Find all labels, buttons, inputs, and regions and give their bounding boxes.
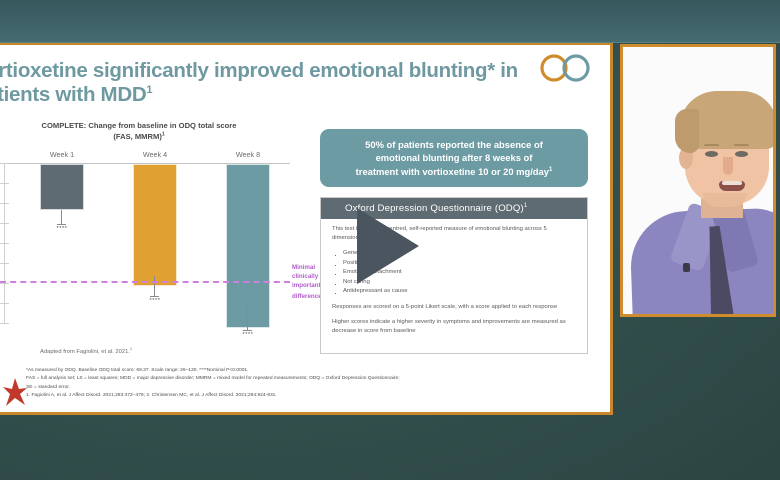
slide-title-line2: atients with MDD: [0, 83, 146, 106]
footnote-line-2: FAS = full analysis set; LS = least squa…: [26, 375, 601, 383]
top-band: [0, 0, 780, 43]
error-cap-week-1: [57, 224, 66, 225]
red-star-icon: [2, 377, 28, 407]
presenter-teeth: [722, 181, 742, 185]
slide-title-line1: ortioxetine significantly improved emoti…: [0, 59, 518, 82]
significance-week-4: ****: [140, 298, 170, 304]
bar-week-4: [133, 164, 177, 286]
error-cap-week-8: [243, 330, 252, 331]
y-tick-40: [0, 323, 9, 324]
slide-title: ortioxetine significantly improved emoti…: [0, 59, 546, 107]
slide-title-superscript: 1: [146, 84, 152, 96]
play-triangle-icon[interactable]: [357, 208, 419, 284]
chart-block: COMPLETE: Change from baseline in ODQ to…: [0, 120, 304, 365]
error-bar-week-8: [247, 302, 248, 330]
x-tick-week-4: Week 4: [125, 150, 185, 159]
presenter-sideburn: [675, 109, 699, 153]
brand-logo: [536, 53, 598, 83]
callout-line2: emotional blunting after 8 weeks of: [376, 152, 533, 163]
mcid-label-line1: Minimal: [292, 264, 315, 271]
callout-superscript: 1: [549, 167, 552, 173]
chart-source-note-superscript: 1: [130, 346, 132, 351]
y-tick-10: [0, 203, 9, 204]
footnote-line-1: *As measured by ODQ. Baseline ODQ total …: [26, 367, 601, 375]
presenter-nose: [723, 157, 733, 175]
key-finding-callout: 50% of patients reported the absence of …: [320, 129, 588, 187]
significance-week-8: ****: [233, 332, 263, 338]
y-tick-20: [0, 243, 9, 244]
chart-source-note-text: Adapted from Fagiolini, et al. 2021.: [40, 349, 130, 355]
significance-week-1: ****: [47, 226, 77, 232]
odq-panel-header-superscript: 1: [524, 203, 528, 209]
bar-week-8: [226, 164, 270, 328]
chart-title-line1: COMPLETE: Change from baseline in ODQ to…: [42, 121, 237, 130]
presenter-video-tile[interactable]: [620, 44, 776, 317]
bar-week-1: [40, 164, 84, 210]
mcid-label-line4: difference: [292, 293, 322, 300]
footnotes: *As measured by ODQ. Baseline ODQ total …: [26, 367, 601, 401]
mcid-reference-line: [0, 281, 290, 283]
footnote-line-3: SE = standard error.: [26, 384, 601, 392]
error-bar-week-4: [154, 276, 155, 296]
callout-line1: 50% of patients reported the absence of: [365, 139, 543, 150]
slide-panel: ortioxetine significantly improved emoti…: [0, 43, 613, 415]
chart-title-line2: (FAS, MMRM): [113, 132, 162, 141]
y-tick-35: [0, 303, 9, 304]
presenter-lapel-mic: [683, 263, 690, 272]
presenter-eye-left: [705, 151, 718, 157]
odq-severity-note: Higher scores indicate a higher severity…: [332, 318, 577, 336]
y-tick-0: [0, 163, 9, 164]
chart-title: COMPLETE: Change from baseline in ODQ to…: [0, 120, 304, 142]
y-tick-30: [0, 283, 9, 284]
error-cap-week-4: [150, 296, 159, 297]
x-tick-week-1: Week 1: [32, 150, 92, 159]
mcid-label-line3: important: [292, 282, 321, 289]
presenter-eye-right: [735, 151, 748, 157]
callout-line3: treatment with vortioxetine 10 or 20 mg/…: [356, 166, 549, 177]
bar-chart-plot: Week 1 Week 4 Week 8 **** ****: [0, 150, 290, 340]
footnote-references: 1. Fagiolini A, et al. J Affect Disord. …: [26, 392, 601, 400]
odq-scoring-note: Responses are scored on a 5-point Likert…: [332, 303, 577, 312]
error-bar-week-1: [61, 210, 62, 224]
list-item: Antidepressant as cause: [332, 287, 577, 297]
y-tick-25: [0, 263, 9, 264]
chart-source-note: Adapted from Fagiolini, et al. 2021.1: [40, 346, 132, 355]
y-tick-5: [0, 183, 9, 184]
y-tick-15: [0, 223, 9, 224]
mcid-label-line2: clinically: [292, 273, 318, 280]
x-tick-week-8: Week 8: [218, 150, 278, 159]
chart-title-superscript: 1: [162, 131, 165, 137]
